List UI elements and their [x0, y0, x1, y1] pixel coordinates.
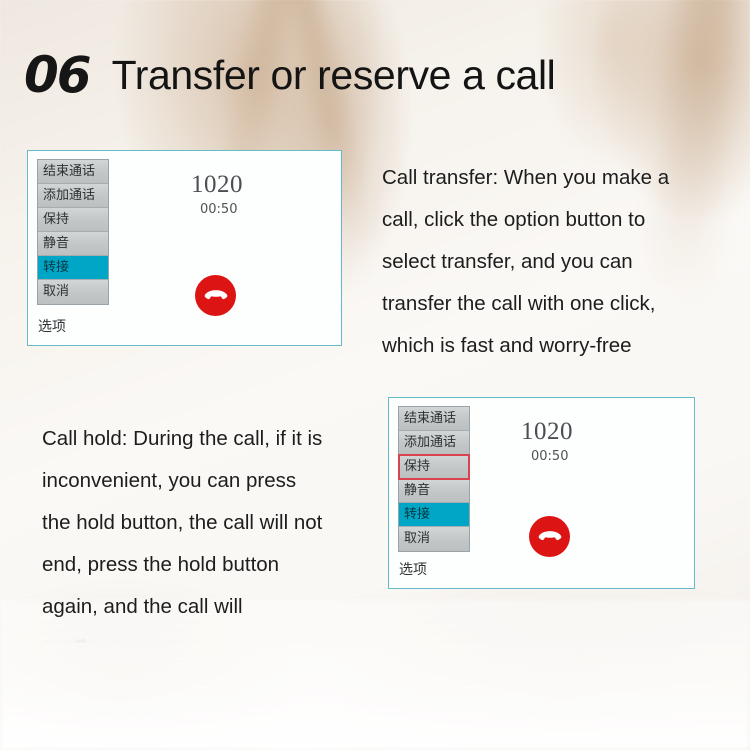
hangup-button-transfer[interactable] [195, 275, 236, 316]
phone-menu-item[interactable]: 取消 [38, 280, 108, 304]
phone-menu-item[interactable]: 保持 [399, 455, 469, 479]
hangup-phone-icon [538, 530, 562, 544]
copy-block-call-hold: Call hold: During the call, if it isinco… [42, 418, 387, 670]
phone-menu-item[interactable]: 结束通话 [38, 160, 108, 184]
hangup-button-hold[interactable] [529, 516, 570, 557]
copy-line: Call transfer: When you make a [382, 157, 727, 199]
phone-screen-hold: 结束通话添加通话保持静音转接取消 选项 1020 00:50 [388, 397, 695, 589]
phone-option-menu-hold[interactable]: 结束通话添加通话保持静音转接取消 [398, 406, 470, 552]
copy-line: transfer the call with one click, [382, 283, 727, 325]
page-title: Transfer or reserve a call [112, 55, 556, 96]
page-header: 06 Transfer or reserve a call [0, 38, 750, 112]
copy-line: call, click the option button to [382, 199, 727, 241]
call-number-transfer: 1020 [191, 171, 243, 199]
softkey-options-hold[interactable]: 选项 [399, 559, 427, 579]
phone-option-menu-transfer[interactable]: 结束通话添加通话保持静音转接取消 [37, 159, 109, 305]
phone-menu-item[interactable]: 转接 [38, 256, 108, 280]
call-duration-hold: 00:50 [531, 449, 568, 464]
phone-menu-item[interactable]: 取消 [399, 527, 469, 551]
phone-menu-item[interactable]: 静音 [38, 232, 108, 256]
softkey-options-transfer[interactable]: 选项 [38, 316, 66, 336]
phone-menu-item[interactable]: 保持 [38, 208, 108, 232]
phone-menu-item[interactable]: 结束通话 [399, 407, 469, 431]
phone-menu-item[interactable]: 静音 [399, 479, 469, 503]
hangup-phone-icon [204, 289, 228, 303]
phone-menu-item[interactable]: 添加通话 [399, 431, 469, 455]
phone-screen-transfer: 结束通话添加通话保持静音转接取消 选项 1020 00:50 [27, 150, 342, 346]
copy-line: inconvenient, you can press [42, 460, 387, 502]
copy-line: the hold button, the call will not [42, 502, 387, 544]
copy-line: Call hold: During the call, if it is [42, 418, 387, 460]
step-number: 06 [24, 50, 90, 100]
phone-menu-item[interactable]: 转接 [399, 503, 469, 527]
call-duration-transfer: 00:50 [200, 202, 237, 217]
call-number-hold: 1020 [521, 418, 573, 446]
copy-block-call-transfer: Call transfer: When you make acall, clic… [382, 157, 727, 367]
copy-line-clipped: continue [42, 628, 387, 670]
phone-menu-item[interactable]: 添加通话 [38, 184, 108, 208]
copy-line: which is fast and worry-free [382, 325, 727, 367]
copy-line: select transfer, and you can [382, 241, 727, 283]
copy-line: again, and the call will [42, 586, 387, 628]
copy-line: end, press the hold button [42, 544, 387, 586]
